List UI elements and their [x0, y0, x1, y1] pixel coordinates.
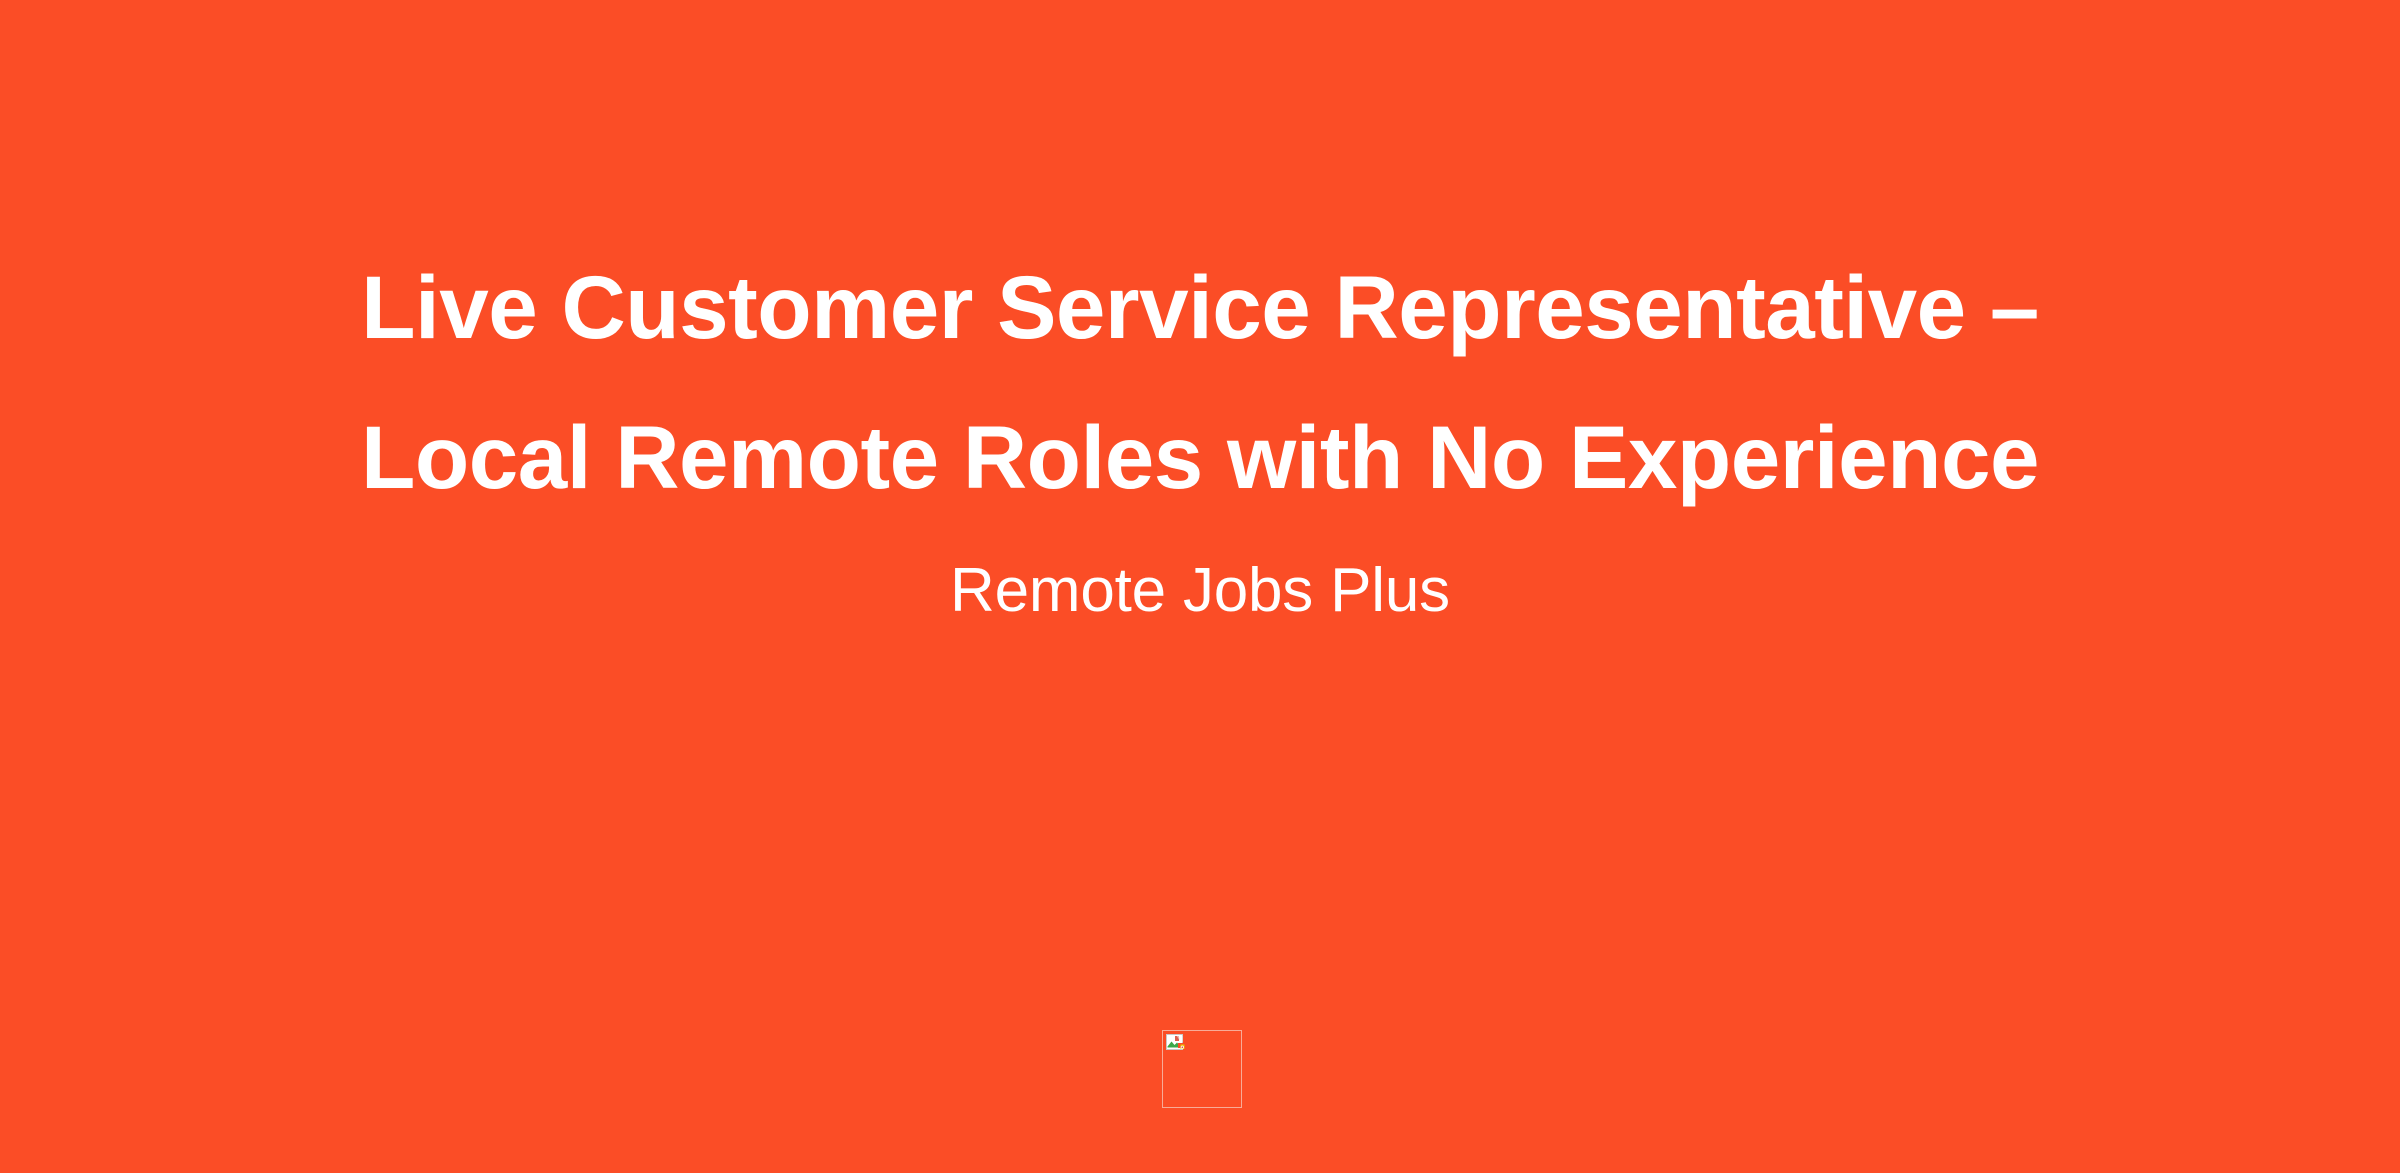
hero-page: Live Customer Service Representative – L…	[0, 0, 2400, 1173]
broken-image-placeholder	[1162, 1030, 1242, 1108]
hero-image-slot	[1162, 1030, 1242, 1108]
broken-image-icon	[1166, 1034, 1187, 1054]
page-subtitle: Remote Jobs Plus	[350, 532, 2050, 628]
hero-section: Live Customer Service Representative – L…	[0, 0, 2400, 628]
page-title: Live Customer Service Representative – L…	[350, 232, 2050, 532]
